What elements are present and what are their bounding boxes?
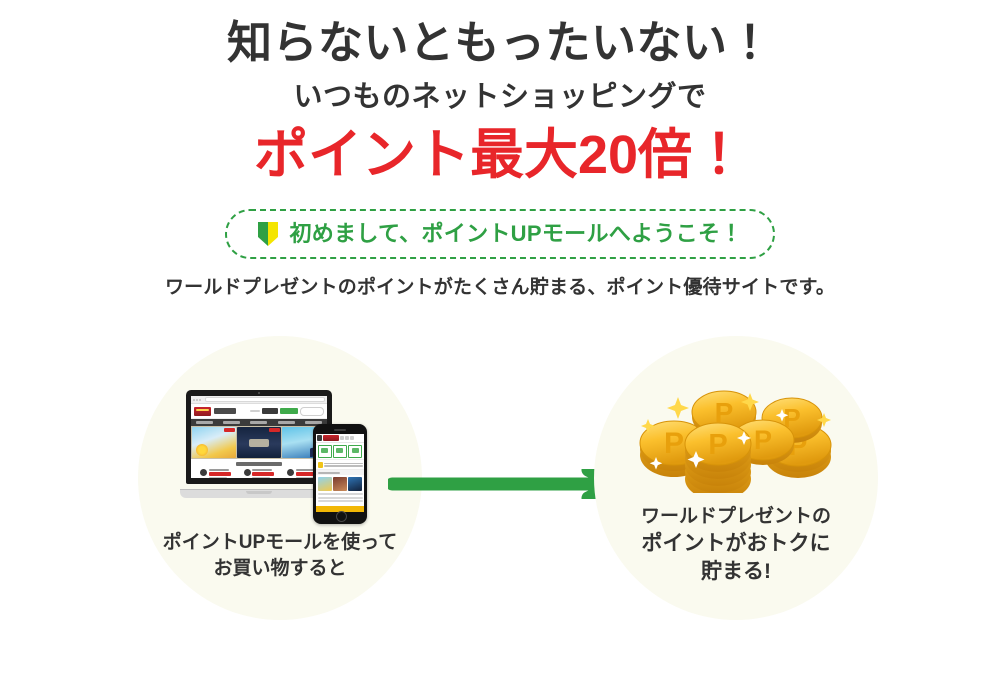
- site-feature-item: [200, 469, 231, 478]
- mobile-thumbnail: [318, 477, 332, 491]
- svg-text:P: P: [664, 427, 684, 460]
- mobile-cart-icon: [350, 436, 354, 440]
- mobile-notice-text: [324, 463, 363, 467]
- browser-chrome-bar: [191, 396, 327, 404]
- site-nav-bar: [191, 419, 327, 426]
- mobile-thumbnail: [348, 477, 362, 491]
- mobile-category-cell: [333, 445, 347, 458]
- browser-dot-icon: [199, 399, 201, 401]
- feature-text: [209, 469, 231, 478]
- feature-note: [252, 477, 270, 478]
- svg-text:P: P: [754, 425, 772, 455]
- mobile-search-icon: [340, 436, 344, 440]
- phone-home-button-icon: [336, 511, 347, 522]
- hero-section: 知らないともったいない！ いつものネットショッピングで ポイント最大20倍！: [0, 0, 1000, 182]
- feature-caption: [252, 469, 272, 471]
- site-nav-item: [196, 421, 213, 424]
- smartphone-illustration: [313, 424, 367, 524]
- mobile-notice-line: [324, 463, 363, 465]
- flow-arrow-icon: [388, 469, 628, 499]
- phone-body: [313, 424, 367, 524]
- hero-headline-secondary: いつものネットショッピングで: [0, 83, 1000, 112]
- browser-url-bar: [205, 397, 325, 403]
- caption-left-line-2: お買い物すると: [138, 556, 422, 582]
- feature-icon: [287, 469, 294, 476]
- feature-icon: [244, 469, 251, 476]
- site-logo-icon: [194, 407, 211, 416]
- site-header-line: [250, 410, 260, 413]
- banner-tag: [224, 428, 235, 432]
- mobile-thumbnail: [333, 477, 347, 491]
- laptop-screen: [191, 396, 327, 478]
- mobile-category-cell: [348, 445, 362, 458]
- feature-note: [209, 477, 227, 478]
- gold-coins-illustration: P P P P P: [632, 383, 838, 493]
- welcome-banner-wrap: 初めまして、ポイントUPモールへようこそ！: [0, 209, 1000, 259]
- promo-banner: 知らないともったいない！ いつものネットショッピングで ポイント最大20倍！ 初…: [0, 0, 1000, 690]
- hero-headline-highlight: ポイント最大20倍！: [0, 128, 1000, 182]
- site-feature-tagline: [236, 462, 282, 466]
- caption-right-line-3: 貯まる!: [594, 558, 878, 586]
- site-nav-item: [223, 421, 240, 424]
- site-login-button: [280, 408, 298, 414]
- feature-highlight: [209, 472, 231, 476]
- site-banner: [192, 427, 236, 458]
- feature-highlight: [252, 472, 274, 476]
- site-banner-carousel: [191, 426, 327, 459]
- mobile-category-grid: [316, 443, 364, 459]
- mobile-list-row: [318, 497, 363, 499]
- laptop-lid: [186, 390, 332, 484]
- mobile-account-icon: [345, 436, 349, 440]
- mobile-category-cell: [318, 445, 332, 458]
- mobile-site-header: [316, 434, 364, 443]
- flow-step-left-caption: ポイントUPモールを使って お買い物すると: [138, 530, 422, 581]
- site-feature-row: [191, 469, 327, 478]
- browser-dot-icon: [196, 399, 198, 401]
- caption-right-line-2: ポイントがおトクに: [594, 530, 878, 558]
- mobile-list-row: [318, 500, 363, 502]
- mobile-notice-icon: [318, 462, 323, 468]
- mobile-thumbnail-row: [316, 475, 364, 492]
- browser-dot-icon: [193, 399, 195, 401]
- site-logo-wordmark: [214, 408, 236, 414]
- mobile-notice-line: [324, 465, 363, 467]
- site-nav-item: [250, 421, 267, 424]
- site-account-button: [300, 407, 324, 416]
- subtitle-text: ワールドプレゼントのポイントがたくさん貯まる、ポイント優待サイトです。: [0, 272, 1000, 299]
- mobile-section-title-bar: [318, 472, 340, 474]
- caption-right-line-1: ワールドプレゼントの: [641, 506, 831, 527]
- hero-headline-primary: 知らないともったいない！: [0, 20, 1000, 65]
- feature-caption: [209, 469, 229, 471]
- site-search-button: [262, 408, 278, 414]
- feature-note: [296, 477, 314, 478]
- feature-icon: [200, 469, 207, 476]
- svg-text:P: P: [708, 429, 727, 461]
- mobile-notice-strip: [316, 459, 364, 470]
- welcome-banner: 初めまして、ポイントUPモールへようこそ！: [225, 209, 774, 259]
- mobile-site-logo-icon: [323, 435, 339, 441]
- site-nav-item: [278, 421, 295, 424]
- site-feature-item: [244, 469, 275, 478]
- site-header: [191, 404, 327, 419]
- caption-left-line-1: ポイントUPモールを使って: [138, 530, 422, 556]
- hamburger-menu-icon: [317, 435, 322, 441]
- site-header-actions: [250, 407, 324, 416]
- laptop-notch: [246, 491, 272, 494]
- shoshinsha-badge-icon: [257, 221, 279, 247]
- laptop-camera-icon: [258, 392, 260, 394]
- phone-speaker-icon: [334, 429, 346, 431]
- banner-tag: [269, 428, 280, 432]
- phone-screen: [316, 434, 364, 512]
- welcome-banner-label: 初めまして、ポイントUPモールへようこそ！: [289, 223, 742, 245]
- mobile-list-row: [318, 493, 363, 495]
- mobile-list-rows: [316, 492, 364, 503]
- site-banner: [237, 427, 281, 458]
- site-feature-section: [191, 459, 327, 478]
- feature-text: [252, 469, 274, 478]
- flow-step-right-caption: ワールドプレゼントの ポイントがおトクに 貯まる!: [594, 504, 878, 586]
